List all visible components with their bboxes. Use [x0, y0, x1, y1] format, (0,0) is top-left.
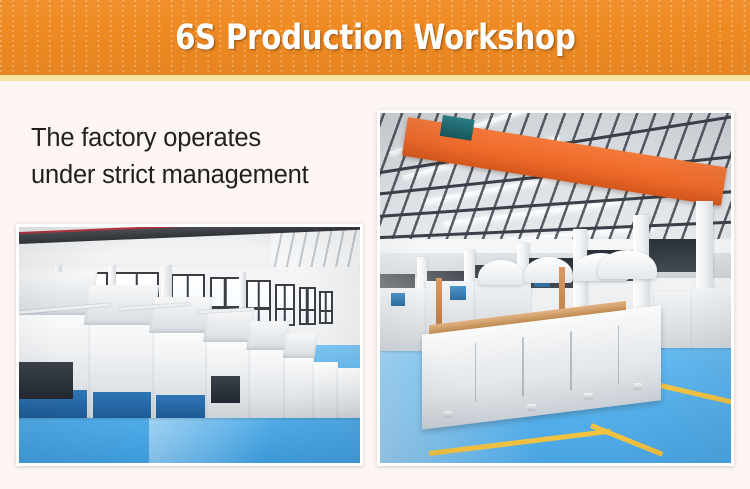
right-machine-caster [633, 383, 642, 390]
right-machine-caster [584, 393, 593, 400]
right-background-machine [692, 288, 731, 348]
right-machine-caster [527, 404, 536, 411]
left-machine-head [246, 321, 289, 350]
left-machine [207, 337, 250, 419]
photo-factory-workshop-right [377, 110, 734, 466]
left-machine [338, 368, 359, 418]
left-machine [19, 309, 90, 418]
right-machine-caster [443, 411, 452, 418]
left-machine [154, 328, 207, 419]
banner-underline [0, 75, 750, 81]
header-banner: 6S Production Workshop [0, 0, 750, 75]
right-copper-column [436, 278, 442, 327]
left-machine-cavity [211, 376, 241, 404]
right-machine-control-screen [391, 293, 405, 305]
right-machine-panel-seam [570, 331, 572, 390]
headline-line-2: under strict management [31, 157, 361, 194]
headline-line-1: The factory operates [31, 120, 361, 157]
left-machine [250, 346, 285, 418]
left-machine-base [93, 392, 152, 418]
page-title: 6S Production Workshop [175, 18, 575, 58]
left-machine [90, 318, 154, 418]
left-machine-cavity [19, 362, 73, 399]
left-machine-base [156, 395, 205, 419]
left-machine-row [19, 305, 360, 418]
photo-factory-production-line-left [16, 224, 363, 466]
left-machine [285, 355, 313, 418]
left-machine [314, 362, 339, 419]
right-machine-control-screen [450, 286, 466, 299]
left-machine-head [203, 309, 254, 342]
right-crane-hoist [440, 115, 474, 141]
right-machine-panel-seam [618, 325, 620, 384]
photo-left-canvas [19, 227, 360, 463]
right-machine-panel-seam [522, 337, 524, 396]
headline-text: The factory operates under strict manage… [31, 120, 361, 194]
photo-right-canvas [380, 113, 731, 463]
right-machine-panel-seam [475, 343, 477, 402]
left-machine-head [282, 333, 316, 358]
